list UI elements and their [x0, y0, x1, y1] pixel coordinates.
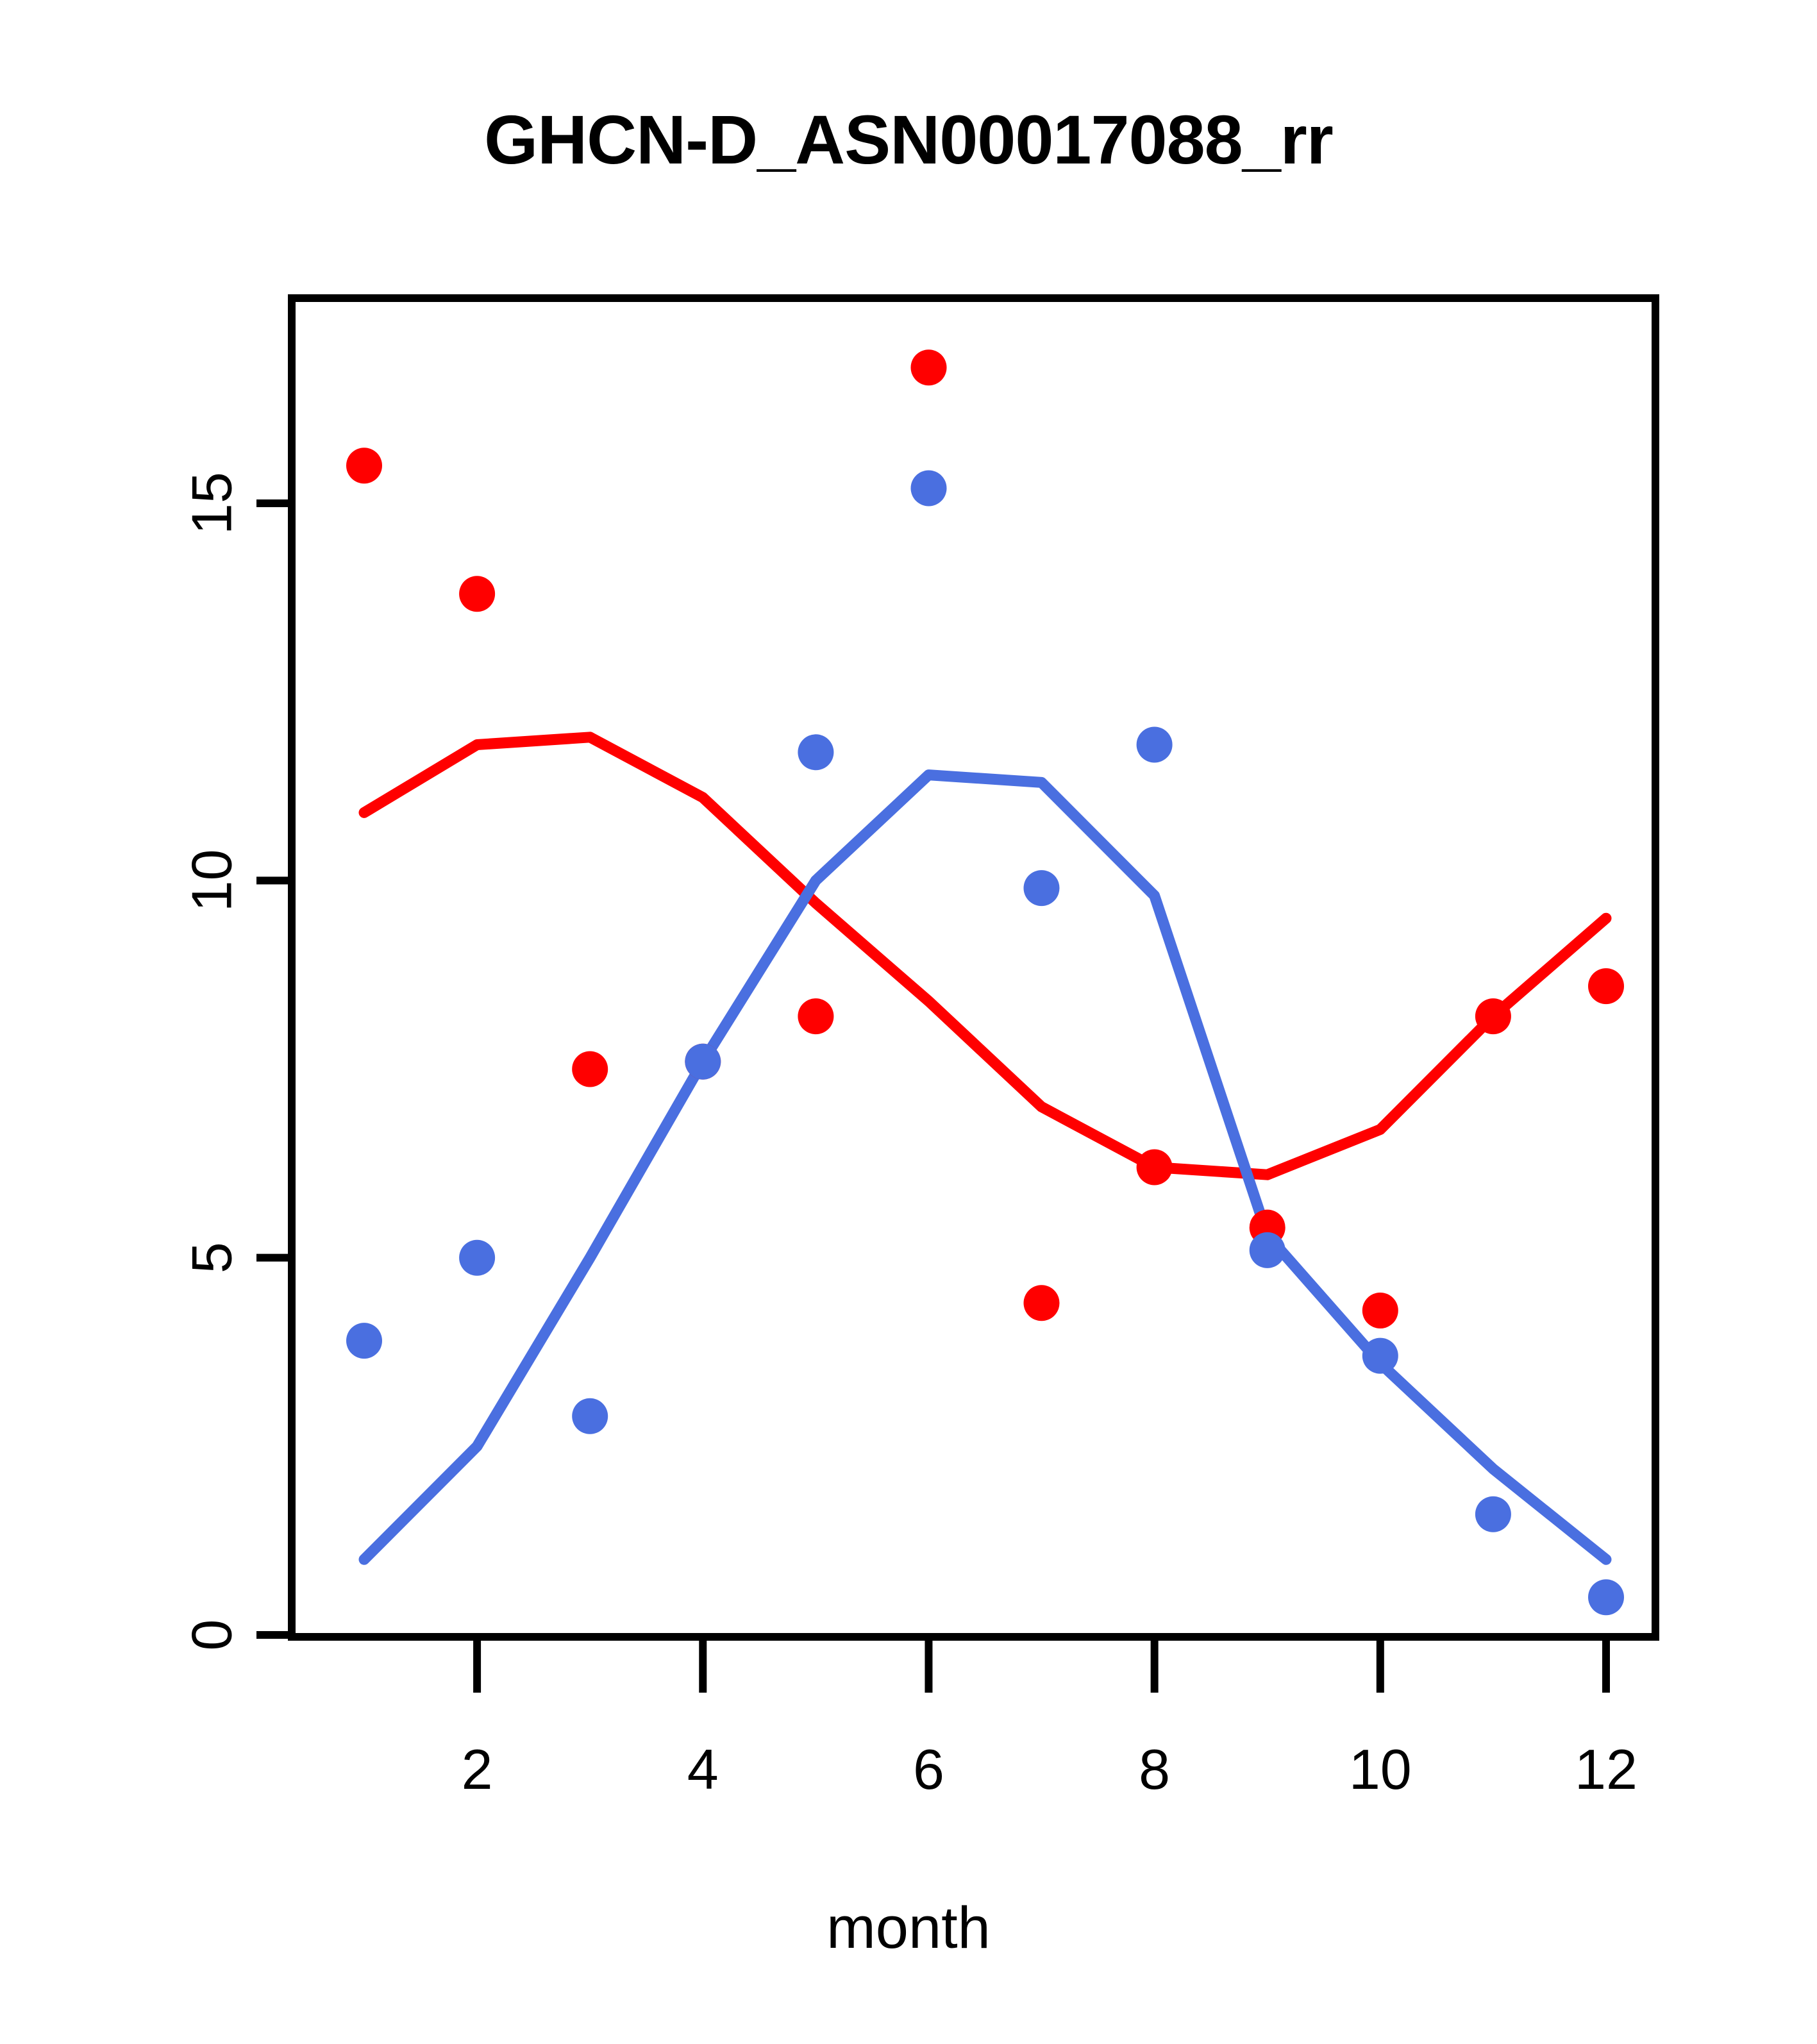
- series-line-red-line: [364, 737, 1606, 1175]
- data-point-blue-points: [911, 471, 947, 507]
- data-point-blue-points: [1362, 1338, 1398, 1374]
- data-point-blue-points: [346, 1323, 382, 1359]
- data-point-red-points: [1137, 1150, 1173, 1185]
- data-point-red-points: [1475, 998, 1511, 1034]
- data-point-red-points: [798, 998, 833, 1034]
- x-axis-tick-labels: 24681012: [462, 1738, 1637, 1801]
- data-point-red-points: [1024, 1285, 1060, 1321]
- y-tick-label: 0: [180, 1620, 244, 1651]
- chart-page: GHCN-D_ASN00017088_rr 051015 24681012 mo…: [0, 0, 1817, 2044]
- data-point-red-points: [1588, 968, 1624, 1004]
- x-tick-label: 12: [1575, 1738, 1637, 1801]
- x-tick-label: 8: [1139, 1738, 1170, 1801]
- x-axis-label: month: [0, 1895, 1817, 1962]
- data-point-blue-points: [1475, 1496, 1511, 1532]
- data-point-blue-points: [1024, 870, 1060, 906]
- data-point-red-points: [1362, 1293, 1398, 1328]
- data-point-blue-points: [1250, 1232, 1285, 1268]
- x-tick-label: 4: [687, 1738, 719, 1801]
- series-lines: [364, 737, 1606, 1560]
- axes: 051015 24681012: [180, 298, 1656, 1801]
- plot-area: 051015 24681012: [0, 0, 1817, 2044]
- y-axis-tick-labels: 051015: [180, 472, 244, 1650]
- y-tick-label: 15: [180, 472, 244, 535]
- x-tick-label: 10: [1349, 1738, 1412, 1801]
- data-point-blue-points: [1588, 1579, 1624, 1615]
- x-axis-ticks: [477, 1637, 1606, 1693]
- data-point-blue-points: [459, 1240, 495, 1276]
- data-point-blue-points: [572, 1398, 608, 1434]
- y-axis-ticks: [256, 503, 292, 1635]
- y-tick-label: 5: [180, 1242, 244, 1273]
- data-point-blue-points: [798, 734, 833, 770]
- data-point-red-points: [346, 448, 382, 483]
- y-tick-label: 10: [180, 849, 244, 912]
- x-tick-label: 2: [462, 1738, 493, 1801]
- data-point-red-points: [911, 349, 947, 385]
- data-point-blue-points: [1137, 727, 1173, 763]
- data-point-red-points: [572, 1051, 608, 1087]
- data-point-blue-points: [685, 1044, 721, 1080]
- series-points: [346, 349, 1624, 1615]
- series-line-blue-line: [364, 775, 1606, 1560]
- data-point-red-points: [459, 576, 495, 612]
- x-tick-label: 6: [913, 1738, 944, 1801]
